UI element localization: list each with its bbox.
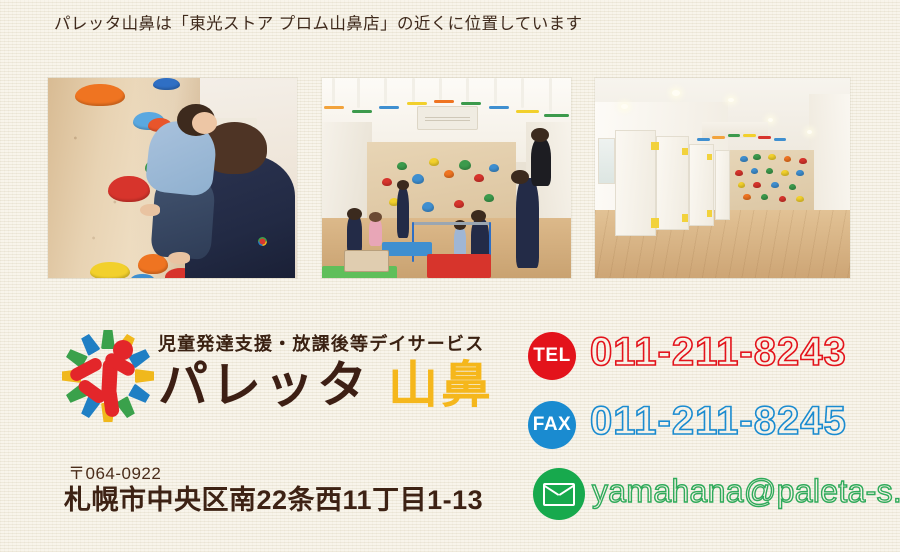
photo-climbing-wall-child: [48, 78, 297, 278]
logo-name-primary: パレッタ: [158, 357, 370, 413]
address-street: 札幌市中央区南22条西11丁目1-13: [64, 478, 483, 517]
logo-name: パレッタ山鼻: [158, 356, 494, 414]
page-headline: パレッタ山鼻は「東光ストア プロム山鼻店」の近くに位置しています: [54, 10, 582, 34]
paleta-logo-mark: [62, 330, 154, 422]
photo-playroom-overview: [322, 78, 571, 278]
envelope-icon: [533, 468, 585, 520]
logo-tagline: 児童発達支援・放課後等デイサービス: [158, 330, 484, 356]
page-root: パレッタ山鼻は「東光ストア プロム山鼻店」の近くに位置しています: [0, 0, 900, 552]
fax-badge: FAX: [528, 401, 576, 449]
tel-badge: TEL: [528, 332, 576, 380]
logo-name-secondary: 山鼻: [388, 357, 494, 413]
tel-number[interactable]: 011-211-8243: [590, 330, 847, 375]
envelope-glyph: [543, 483, 575, 506]
email-address[interactable]: yamahana@paleta-s.net: [592, 473, 900, 510]
photo-empty-room: [595, 78, 850, 278]
fax-number: 011-211-8245: [590, 399, 847, 444]
